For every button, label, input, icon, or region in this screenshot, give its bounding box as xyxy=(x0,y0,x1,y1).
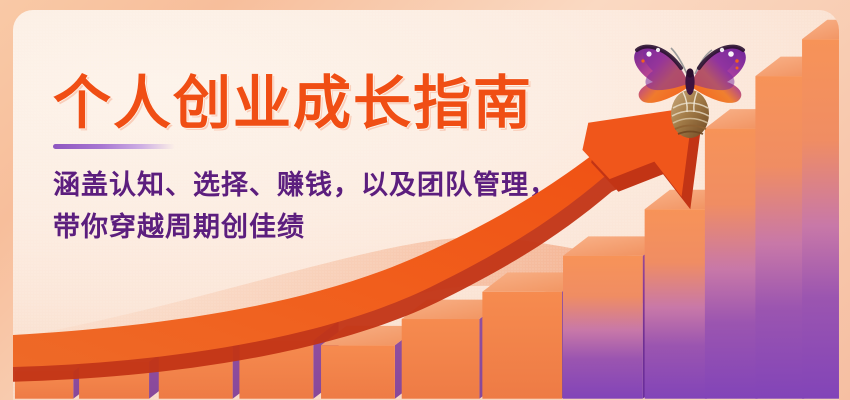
cocoon-icon xyxy=(671,90,709,138)
content-card: 个人创业成长指南 涵盖认知、选择、赚钱，以及团队管理，带你穿越周期创佳绩 xyxy=(13,10,839,400)
banner-root: 个人创业成长指南 涵盖认知、选择、赚钱，以及团队管理，带你穿越周期创佳绩 xyxy=(0,0,850,400)
butterfly-icon xyxy=(625,28,755,163)
